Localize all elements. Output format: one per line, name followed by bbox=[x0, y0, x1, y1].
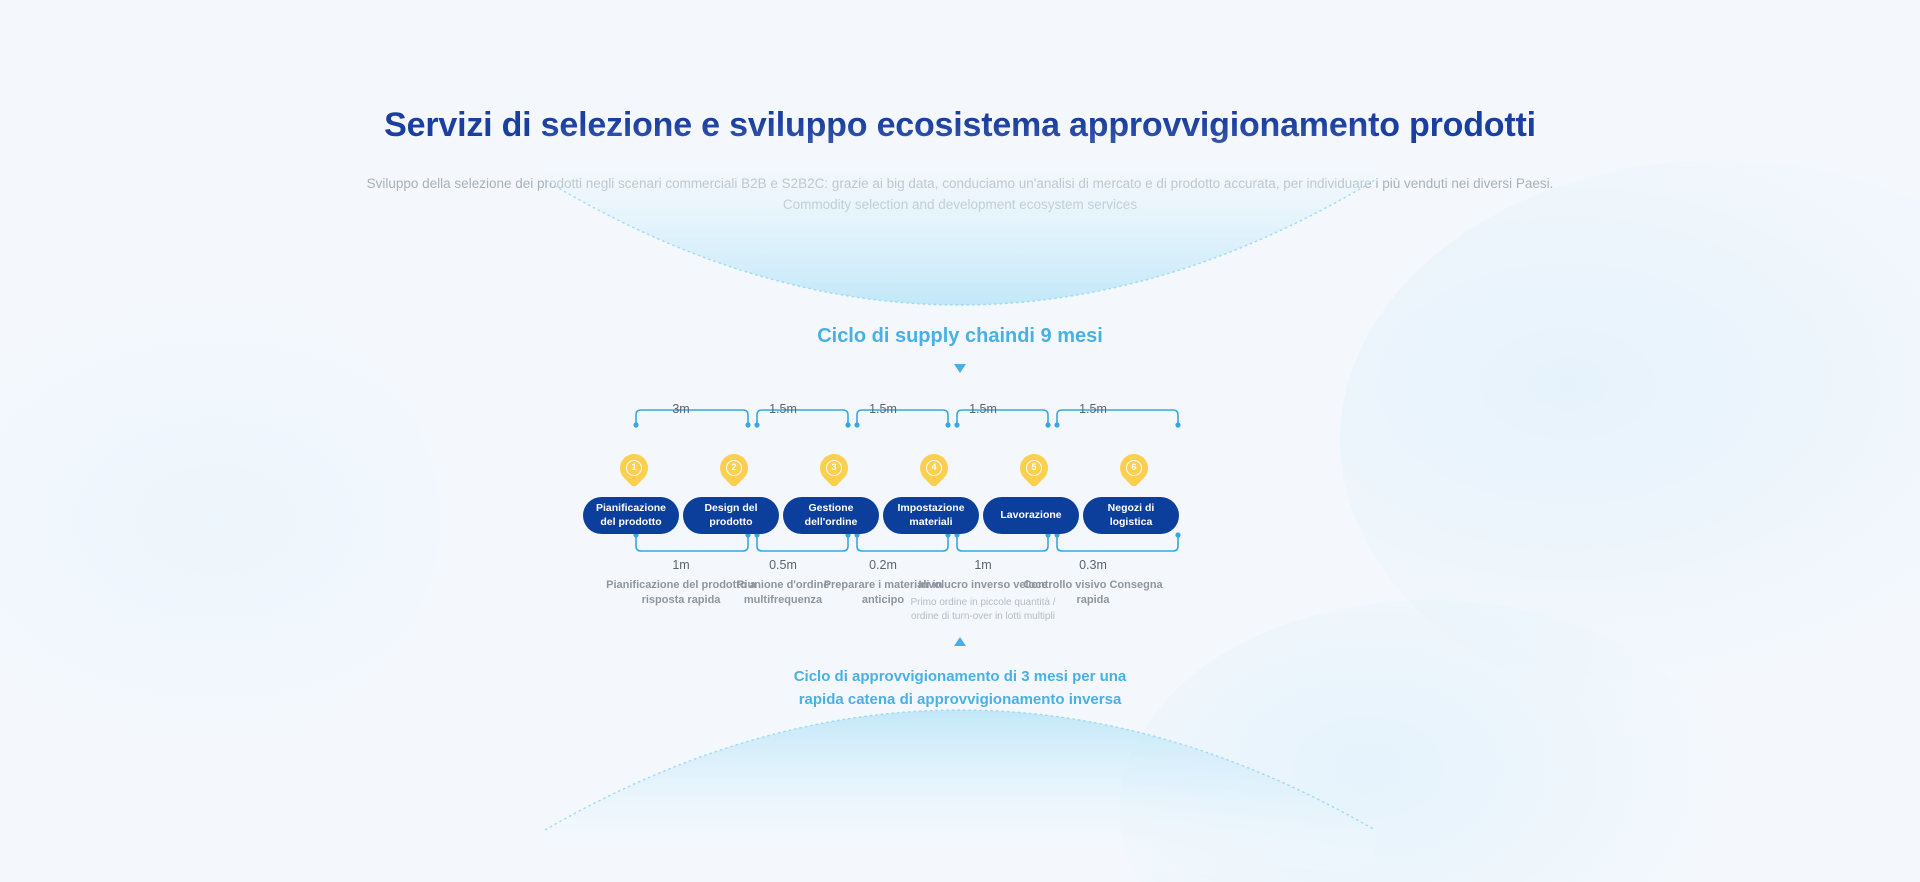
page-subtitle: Sviluppo della selezione dei prodotti ne… bbox=[0, 173, 1920, 217]
step-4-node[interactable]: Impostazione materiali bbox=[883, 497, 979, 534]
step-5-label-line-1: Lavorazione bbox=[995, 509, 1066, 522]
page-title: Servizi di selezione e sviluppo ecosiste… bbox=[0, 104, 1920, 147]
step-1-label-line-2: del prodotto bbox=[591, 516, 671, 529]
step-2-label-line-2: prodotto bbox=[699, 516, 762, 529]
step-3-number: 3 bbox=[826, 460, 842, 476]
step-4-label-line-2: materiali bbox=[892, 516, 969, 529]
step-5-bottom-time: 0.3m bbox=[1018, 558, 1168, 572]
page-header: Servizi di selezione e sviluppo ecosiste… bbox=[0, 104, 1920, 216]
background-blob-right-bottom bbox=[1120, 600, 1740, 882]
step-6-pin-icon: 6 bbox=[1120, 454, 1148, 492]
bottom-arc-caption-line-1: Ciclo di approvvigionamento di 3 mesi pe… bbox=[0, 666, 1920, 689]
bottom-arc-caption-line-2: rapida catena di approvvigionamento inve… bbox=[0, 689, 1920, 712]
step-4-label-line-1: Impostazione bbox=[892, 502, 969, 515]
step-3-label-line-1: Gestione bbox=[800, 502, 863, 515]
step-2-number: 2 bbox=[726, 460, 742, 476]
step-5-pin-icon: 5 bbox=[1020, 454, 1048, 492]
step-4-pin-icon: 4 bbox=[920, 454, 948, 492]
top-arc-pointer bbox=[954, 364, 966, 373]
step-5-desc-main: Controllo visivo Consegna rapida bbox=[1018, 578, 1168, 608]
step-5-number: 5 bbox=[1026, 460, 1042, 476]
step-5-description: Controllo visivo Consegna rapida bbox=[1018, 578, 1168, 611]
step-5-top-time: 1.5m bbox=[1018, 402, 1168, 416]
step-1-node[interactable]: Pianificazione del prodotto bbox=[583, 497, 679, 534]
bottom-arc-pointer bbox=[954, 637, 966, 646]
step-5-node[interactable]: Lavorazione bbox=[983, 497, 1079, 534]
step-1-pin-icon: 1 bbox=[620, 454, 648, 492]
step-6-label-line-2: logistica bbox=[1103, 516, 1160, 529]
step-2-label-line-1: Design del bbox=[699, 502, 762, 515]
step-3-label-line-2: dell'ordine bbox=[800, 516, 863, 529]
step-2-node[interactable]: Design del prodotto bbox=[683, 497, 779, 534]
top-bracket-dots bbox=[633, 422, 1180, 427]
page-subtitle-line-2: Commodity selection and development ecos… bbox=[0, 194, 1920, 216]
page-subtitle-line-1: Sviluppo della selezione dei prodotti ne… bbox=[0, 173, 1920, 195]
bottom-brackets bbox=[636, 536, 1178, 551]
bottom-arc-shape bbox=[545, 710, 1375, 880]
step-6-node[interactable]: Negozi di logistica bbox=[1083, 497, 1179, 534]
step-4-number: 4 bbox=[926, 460, 942, 476]
step-3-node[interactable]: Gestione dell'ordine bbox=[783, 497, 879, 534]
step-6-label-line-1: Negozi di bbox=[1103, 502, 1160, 515]
step-2-pin-icon: 2 bbox=[720, 454, 748, 492]
background-blob-right-top bbox=[1340, 160, 1920, 720]
step-6-number: 6 bbox=[1126, 460, 1142, 476]
step-3-pin-icon: 3 bbox=[820, 454, 848, 492]
bottom-arc-caption: Ciclo di approvvigionamento di 3 mesi pe… bbox=[0, 666, 1920, 711]
step-1-number: 1 bbox=[626, 460, 642, 476]
step-1-label-line-1: Pianificazione bbox=[591, 502, 671, 515]
top-arc-caption: Ciclo di supply chaindi 9 mesi bbox=[0, 325, 1920, 348]
